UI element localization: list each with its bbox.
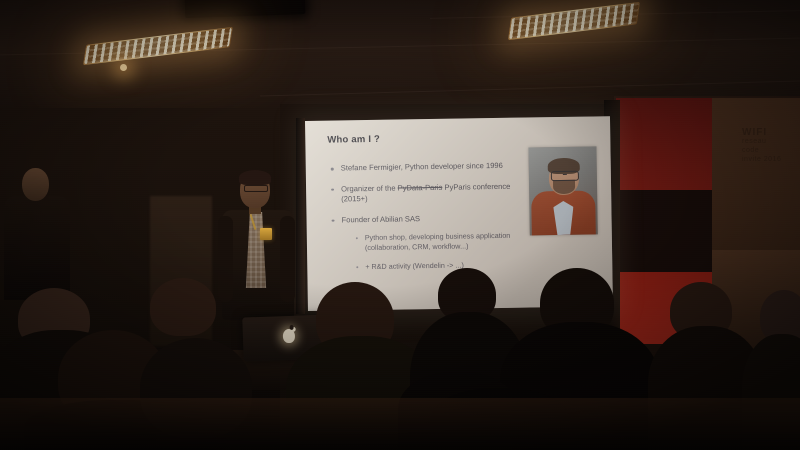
apple-logo-icon [283,329,295,343]
photo-scene: WIFI reseau code invite 2016 Who am I ? … [0,0,800,450]
presenter-hair [239,170,271,185]
person-head [22,168,49,201]
person-standing-left [4,168,72,298]
person-body [4,196,70,300]
ceiling-light-panel-right [508,2,640,40]
wall-sign-line3: invite 2016 [742,155,788,164]
bullet-text: Stefane Fermigier, Python developer sinc… [341,161,503,173]
list-item: Stefane Fermigier, Python developer sinc… [328,161,524,175]
bullet-text-strikethrough: PyData-Paris [398,182,443,192]
spot-light [120,64,127,71]
presenter-arm-left [218,216,233,302]
bullet-text: Organizer of the [341,183,398,193]
list-item: Founder of Abilian SAS Python shop, deve… [328,212,525,273]
wall-sign-line1: reseau [742,137,788,146]
list-item: + R&D activity (Wendelin -> ...) [354,260,525,273]
wall-sign-line2: code [742,146,788,155]
wall-sign-title: WIFI [742,128,788,137]
wall-sign: WIFI reseau code invite 2016 [742,128,788,172]
glasses-icon [551,171,579,181]
wall-panel-dark-red [616,98,712,190]
light-grille [509,3,639,39]
glasses-icon [244,185,268,192]
bullet-text: Founder of Abilian SAS [341,214,420,224]
slide-portrait-photo [528,146,597,235]
light-grille [84,28,232,64]
slide-sub-bullet-list: Python shop, developing business applica… [354,231,526,273]
wall-panel-tan [712,98,800,258]
list-item: Python shop, developing business applica… [354,231,525,254]
floor-glow [0,398,800,450]
ceiling-seam [260,80,800,96]
audience-head [150,278,216,336]
ceiling-light-panel-left [83,27,233,66]
ceiling-vent [185,0,306,18]
presenter-arm-right [280,216,295,302]
slide-bullet-list: Stefane Fermigier, Python developer sinc… [328,161,526,273]
list-item: Organizer of the PyData-Paris PyParis co… [328,181,524,205]
wall-panel-black [616,190,712,272]
slide-title: Who am I ? [327,130,600,145]
badge-icon [260,228,272,240]
